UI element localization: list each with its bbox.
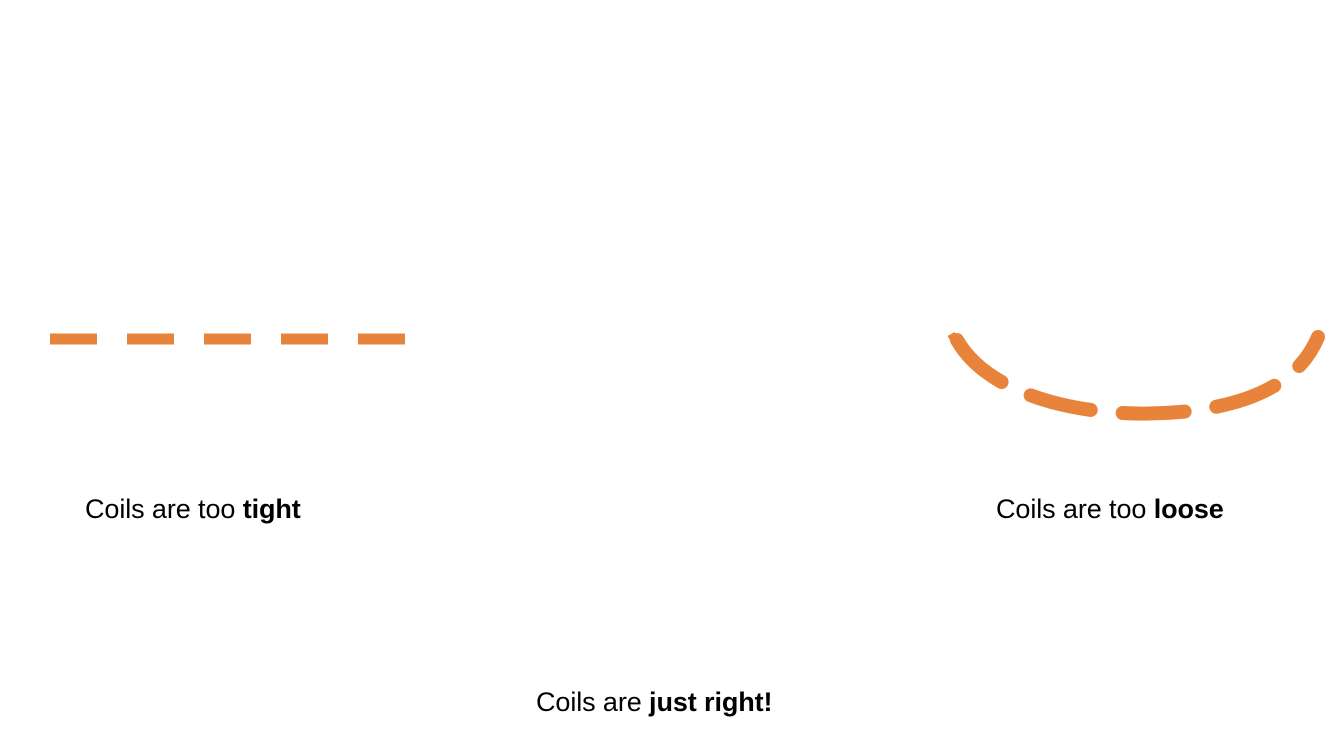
sagging-dashed-arc-icon xyxy=(957,337,1318,414)
arc-start-stub-icon xyxy=(951,334,957,344)
caption-just-right-prefix: Coils are xyxy=(536,687,649,717)
caption-coils-too-loose: Coils are too loose xyxy=(996,496,1224,523)
caption-coils-just-right: Coils are just right! xyxy=(536,689,772,716)
caption-loose-emphasis: loose xyxy=(1154,494,1224,524)
slide-canvas: Coils are too tight Coils are too loose … xyxy=(0,0,1333,750)
caption-tight-emphasis: tight xyxy=(243,494,301,524)
caption-just-right-emphasis: just right! xyxy=(649,687,772,717)
caption-loose-prefix: Coils are too xyxy=(996,494,1154,524)
caption-tight-prefix: Coils are too xyxy=(85,494,243,524)
coil-illustrations-svg xyxy=(0,0,1333,750)
just-right-coil-illustration xyxy=(430,300,910,520)
caption-coils-too-tight: Coils are too tight xyxy=(85,496,301,523)
loose-coil-illustration xyxy=(951,334,1318,414)
illustration-layer xyxy=(0,0,1333,750)
blank-illustration-area xyxy=(430,300,910,520)
